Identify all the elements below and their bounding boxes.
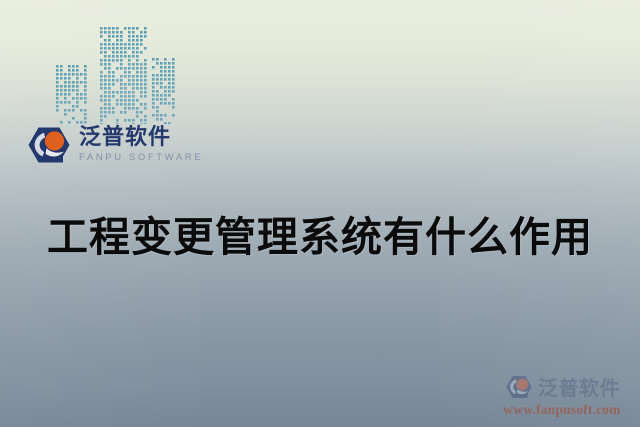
brand-lockup: 泛普软件 FANPU SOFTWARE [27,124,203,166]
brand-wordmark-group: 泛普软件 FANPU SOFTWARE [79,127,203,163]
dot-matrix-city-skyline-icon [56,27,176,124]
brand-name-en: FANPU SOFTWARE [79,153,203,163]
watermark-url: www.fanpusoft.com [492,402,632,418]
fanpu-hexagon-logo-mark-icon [504,374,534,400]
watermark-brand-name: 泛普软件 [538,372,620,401]
fanpu-hexagon-logo-mark-icon [27,124,71,166]
brand-name-cn: 泛普软件 [79,127,203,149]
watermark: 泛普软件 www.fanpusoft.com [492,372,632,418]
watermark-logo-row: 泛普软件 [492,372,632,401]
page-title: 工程变更管理系统有什么作用 [0,203,640,263]
banner-canvas: 泛普软件 FANPU SOFTWARE 工程变更管理系统有什么作用 泛普软件 w… [0,0,640,427]
